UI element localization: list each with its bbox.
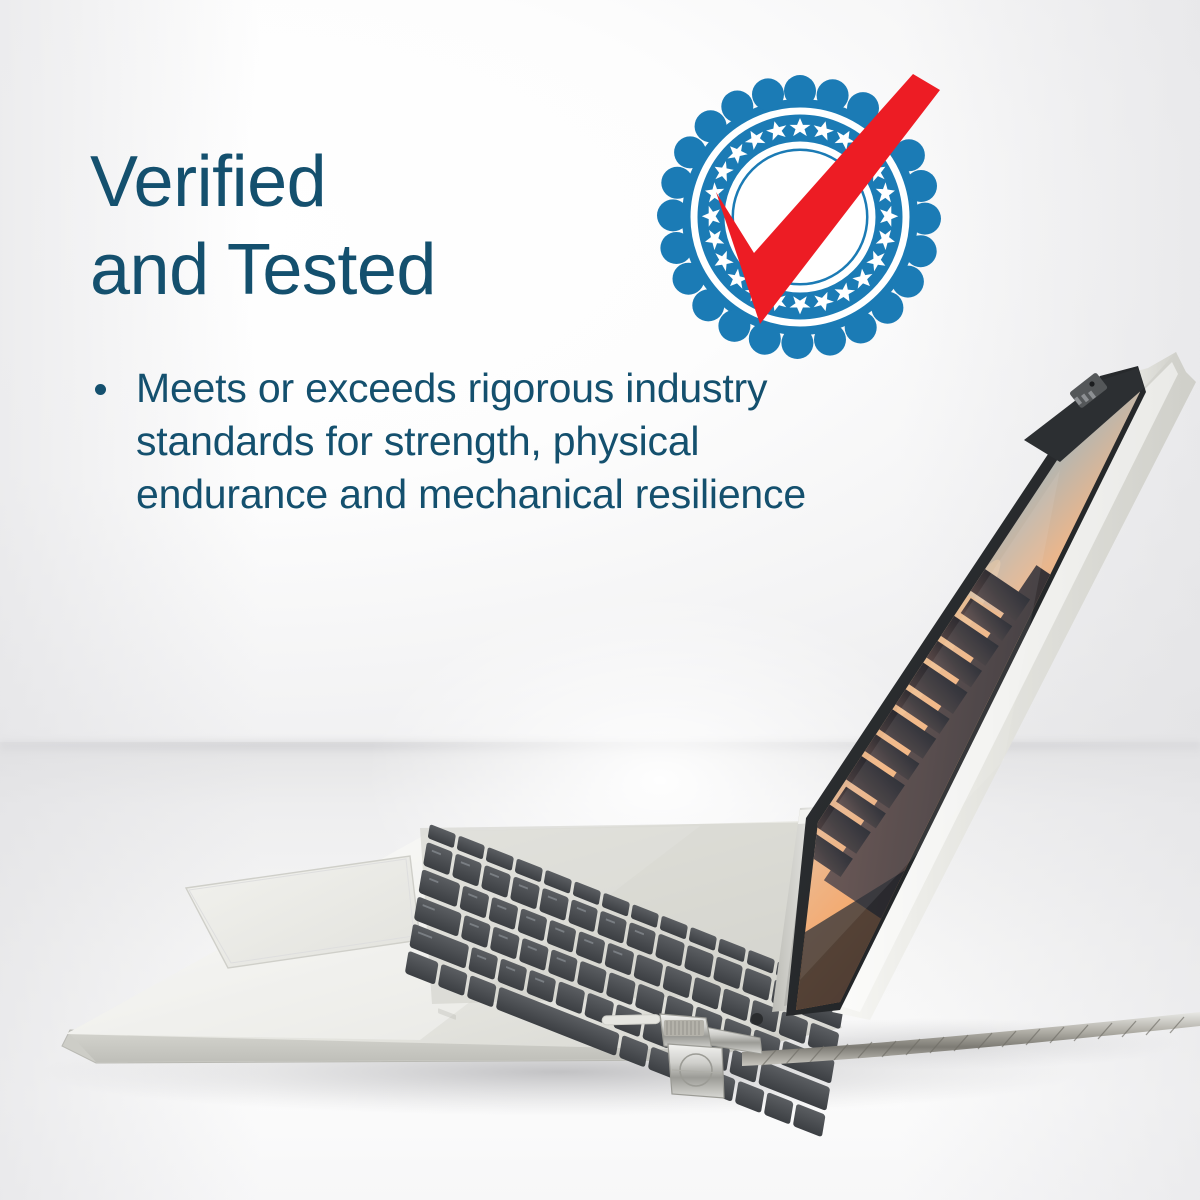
page-title: Verified and Tested xyxy=(90,138,730,314)
bullet-dot-icon xyxy=(95,384,106,395)
feature-bullet-item: Meets or exceeds rigorous industry stand… xyxy=(90,362,850,521)
promo-graphic: Verified and Tested Meets or exceeds rig… xyxy=(0,0,1200,1200)
feature-bullet-text: Meets or exceeds rigorous industry stand… xyxy=(136,362,826,521)
